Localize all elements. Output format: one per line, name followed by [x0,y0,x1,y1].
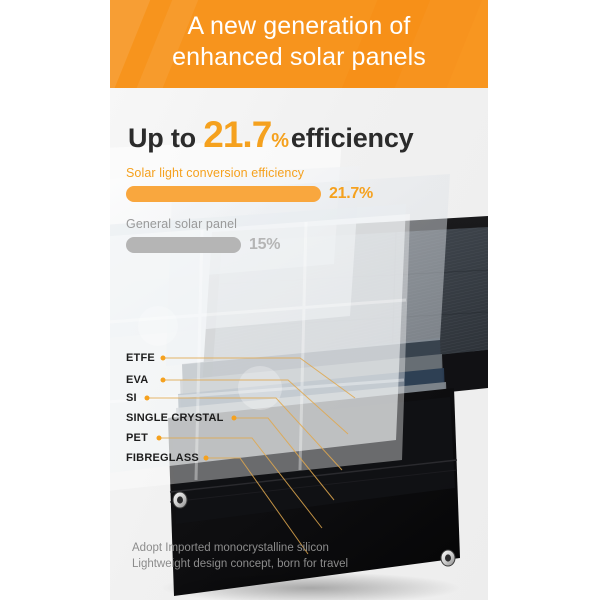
layer-dot-single-crystal [232,416,237,421]
layer-callouts: ETFE EVA SI SINGLE CRYSTAL PET FIBREGLAS… [110,88,488,600]
banner-title: A new generation of enhanced solar panel… [110,0,488,73]
banner-title-line1: A new generation of [188,12,411,40]
layer-dot-fibreglass [204,456,209,461]
layer-label-pet: PET [126,432,148,444]
layer-dot-etfe [161,356,166,361]
layer-label-eva: EVA [126,374,148,386]
product-infographic: A new generation of enhanced solar panel… [0,0,600,600]
layer-dot-pet [157,436,162,441]
layer-label-fibreglass: FIBREGLASS [126,452,199,464]
callout-leader-lines [110,88,488,600]
footer-description: Adopt Imported monocrystalline silicon L… [132,540,348,572]
content-panel: Up to 21.7%efficiency Solar light conver… [110,88,488,600]
footer-line-2: Lightweight design concept, born for tra… [132,556,348,572]
footer-line-1: Adopt Imported monocrystalline silicon [132,540,348,556]
layer-label-single-crystal: SINGLE CRYSTAL [126,412,224,424]
layer-dot-si [145,396,150,401]
banner-title-line2: enhanced solar panels [124,42,474,73]
layer-label-etfe: ETFE [126,352,155,364]
layer-dot-eva [161,378,166,383]
layer-label-si: SI [126,392,137,404]
banner-header: A new generation of enhanced solar panel… [110,0,488,88]
